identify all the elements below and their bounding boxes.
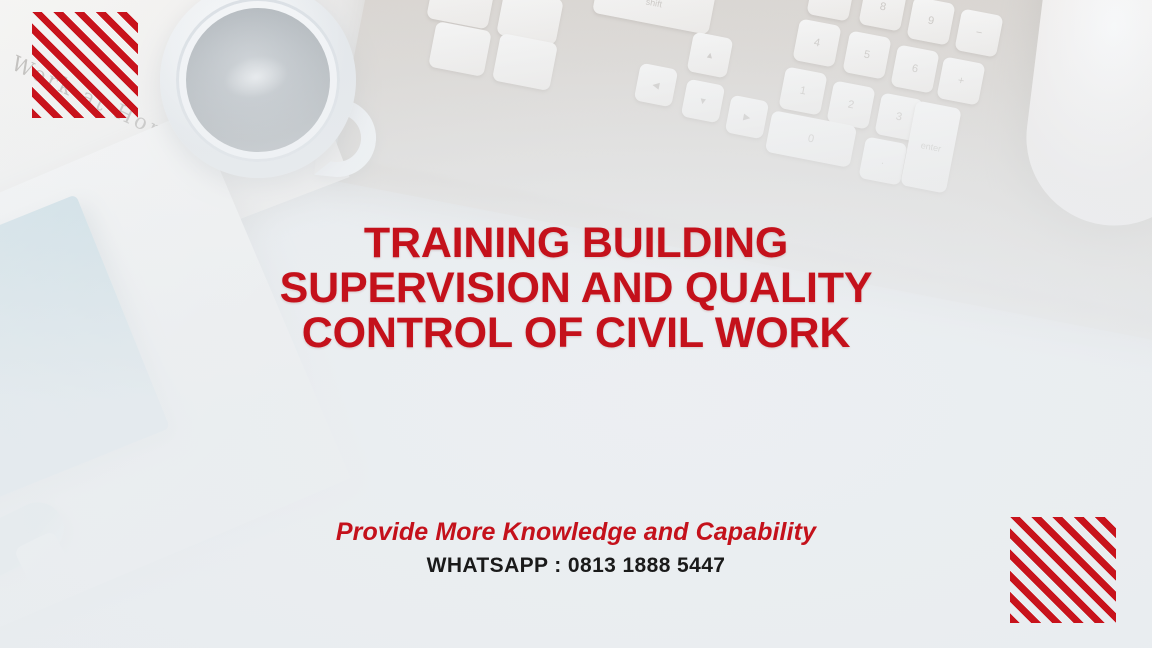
whatsapp-contact: WHATSAPP : 0813 1888 5447 [0, 554, 1152, 578]
title-line-3: CONTROL OF CIVIL WORK [0, 311, 1152, 356]
training-banner: shift▲◀▼▶789−456+1230.enter Work at Home… [0, 0, 1152, 648]
page-title: TRAINING BUILDING SUPERVISION AND QUALIT… [0, 221, 1152, 356]
banner-footer: Provide More Knowledge and Capability WH… [0, 518, 1152, 578]
title-line-2: SUPERVISION AND QUALITY [0, 266, 1152, 311]
title-line-1: TRAINING BUILDING [0, 221, 1152, 266]
tagline: Provide More Knowledge and Capability [0, 518, 1152, 547]
banner-content: TRAINING BUILDING SUPERVISION AND QUALIT… [0, 0, 1152, 648]
